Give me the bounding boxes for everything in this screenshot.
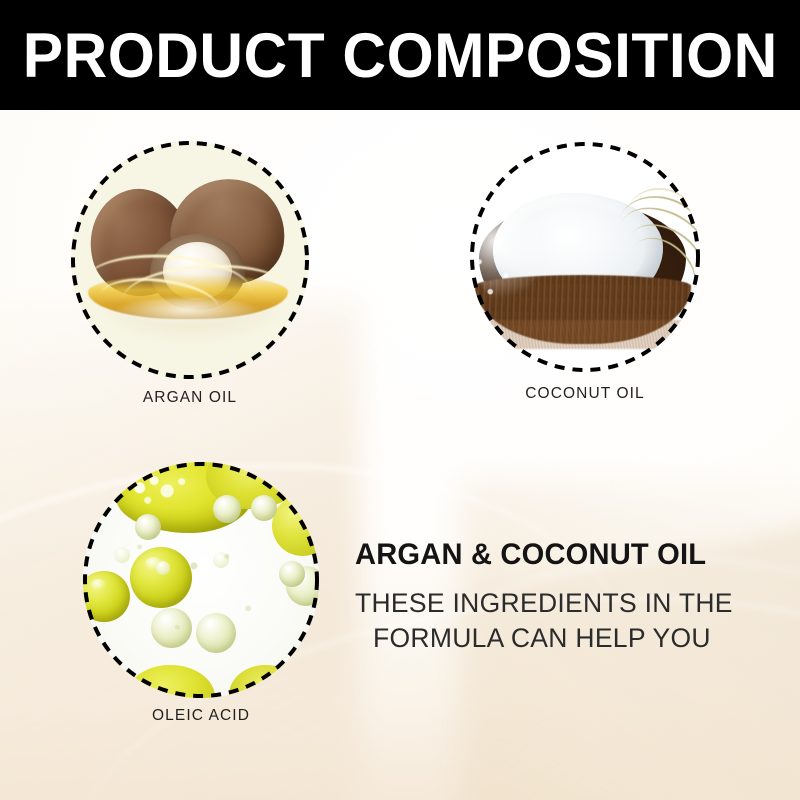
ingredient-oleic-acid: OLEIC ACID [83, 462, 319, 698]
ingredient-coconut-oil: COCONUT OIL [470, 142, 700, 372]
argan-oil-illustration [71, 141, 309, 379]
oleic-acid-label: OLEIC ACID [152, 707, 250, 725]
coconut-oil-image-circle [470, 142, 700, 372]
argan-oil-label: ARGAN OIL [143, 389, 237, 407]
oleic-acid-illustration [83, 462, 319, 698]
coconut-oil-illustration [470, 142, 700, 372]
header-banner: PRODUCT COMPOSITION [0, 0, 800, 110]
copy-subtext: THESE INGREDIENTS IN THE FORMULA CAN HEL… [355, 586, 775, 656]
oleic-acid-image-circle [83, 462, 319, 698]
product-composition-poster: PRODUCT COMPOSITION ARGAN OIL [0, 0, 800, 800]
copy-block: ARGAN & COCONUT OIL THESE INGREDIENTS IN… [355, 540, 775, 656]
page-title: PRODUCT COMPOSITION [22, 25, 777, 88]
copy-subtext-line-1: THESE INGREDIENTS IN THE [355, 586, 775, 621]
copy-subtext-line-2: FORMULA CAN HELP YOU [355, 621, 775, 656]
copy-heading: ARGAN & COCONUT OIL [355, 540, 762, 570]
coconut-oil-label: COCONUT OIL [525, 385, 644, 403]
ingredient-argan-oil: ARGAN OIL [71, 141, 309, 379]
argan-oil-image-circle [71, 141, 309, 379]
